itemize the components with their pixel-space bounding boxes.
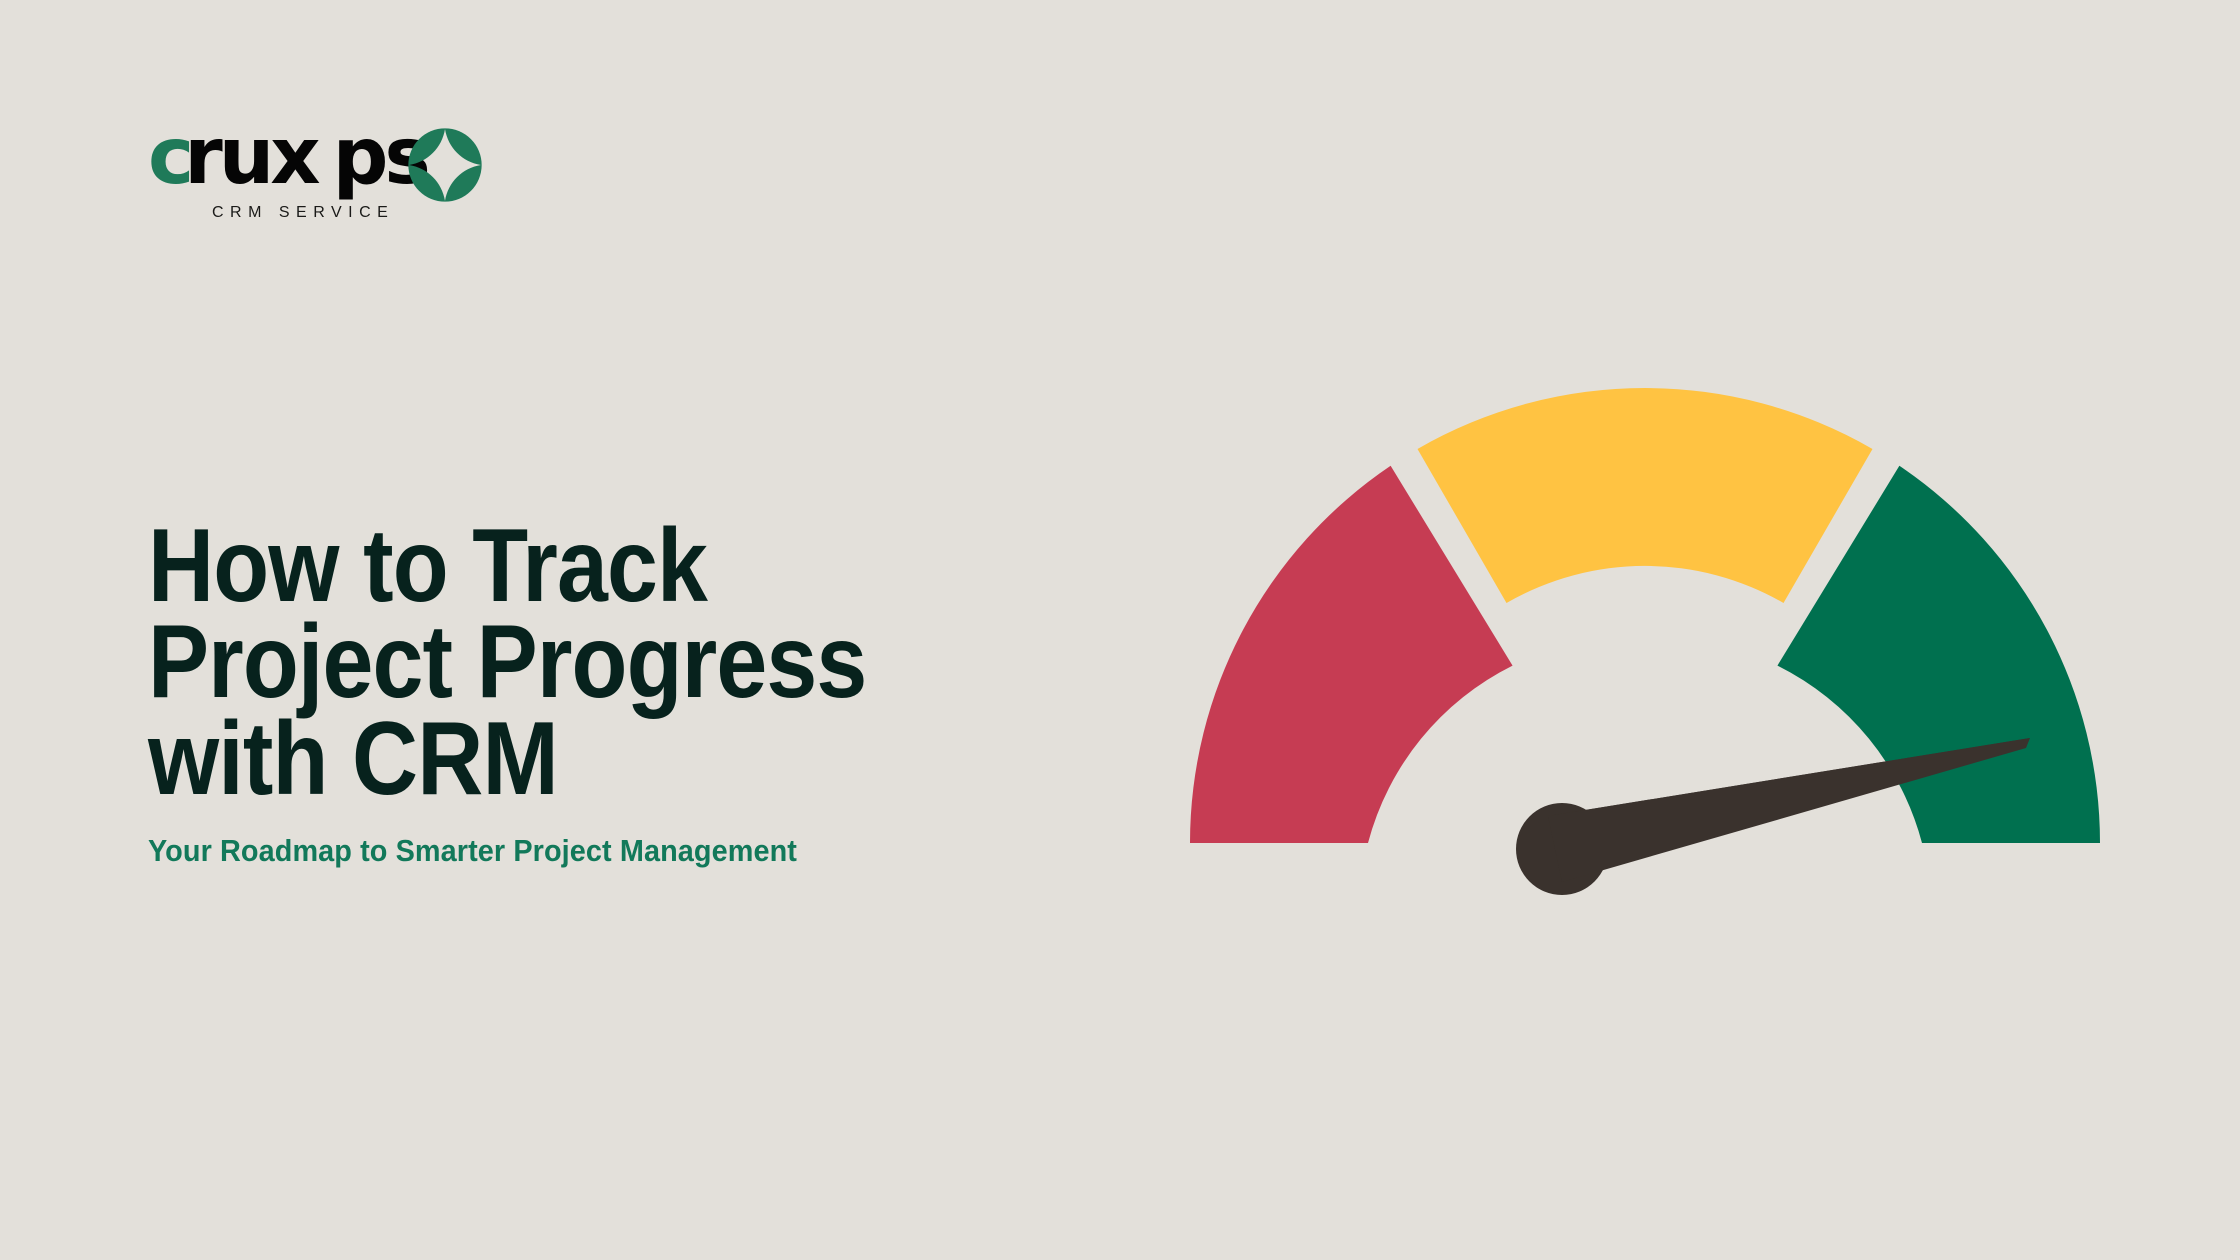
- progress-gauge-chart: [1130, 330, 2170, 910]
- poster-canvas: c rux ps CRM SERVICE How to Track Projec…: [0, 0, 2240, 1260]
- gauge-segment-at-risk: [1418, 388, 1873, 603]
- logo-tagline: CRM SERVICE: [212, 204, 394, 222]
- compass-star-icon: [406, 126, 484, 204]
- page-title: How to Track Project Progress with CRM: [148, 518, 1046, 808]
- title-line-1: How to Track: [148, 518, 1046, 615]
- logo-letters-rux: rux: [184, 118, 316, 196]
- page-subtitle: Your Roadmap to Smarter Project Manageme…: [148, 833, 797, 869]
- logo-wordmark: c rux ps: [148, 118, 427, 196]
- title-line-3: with CRM: [148, 711, 1046, 808]
- title-line-2: Project Progress: [148, 614, 1046, 711]
- brand-logo[interactable]: c rux ps CRM SERVICE: [148, 118, 668, 228]
